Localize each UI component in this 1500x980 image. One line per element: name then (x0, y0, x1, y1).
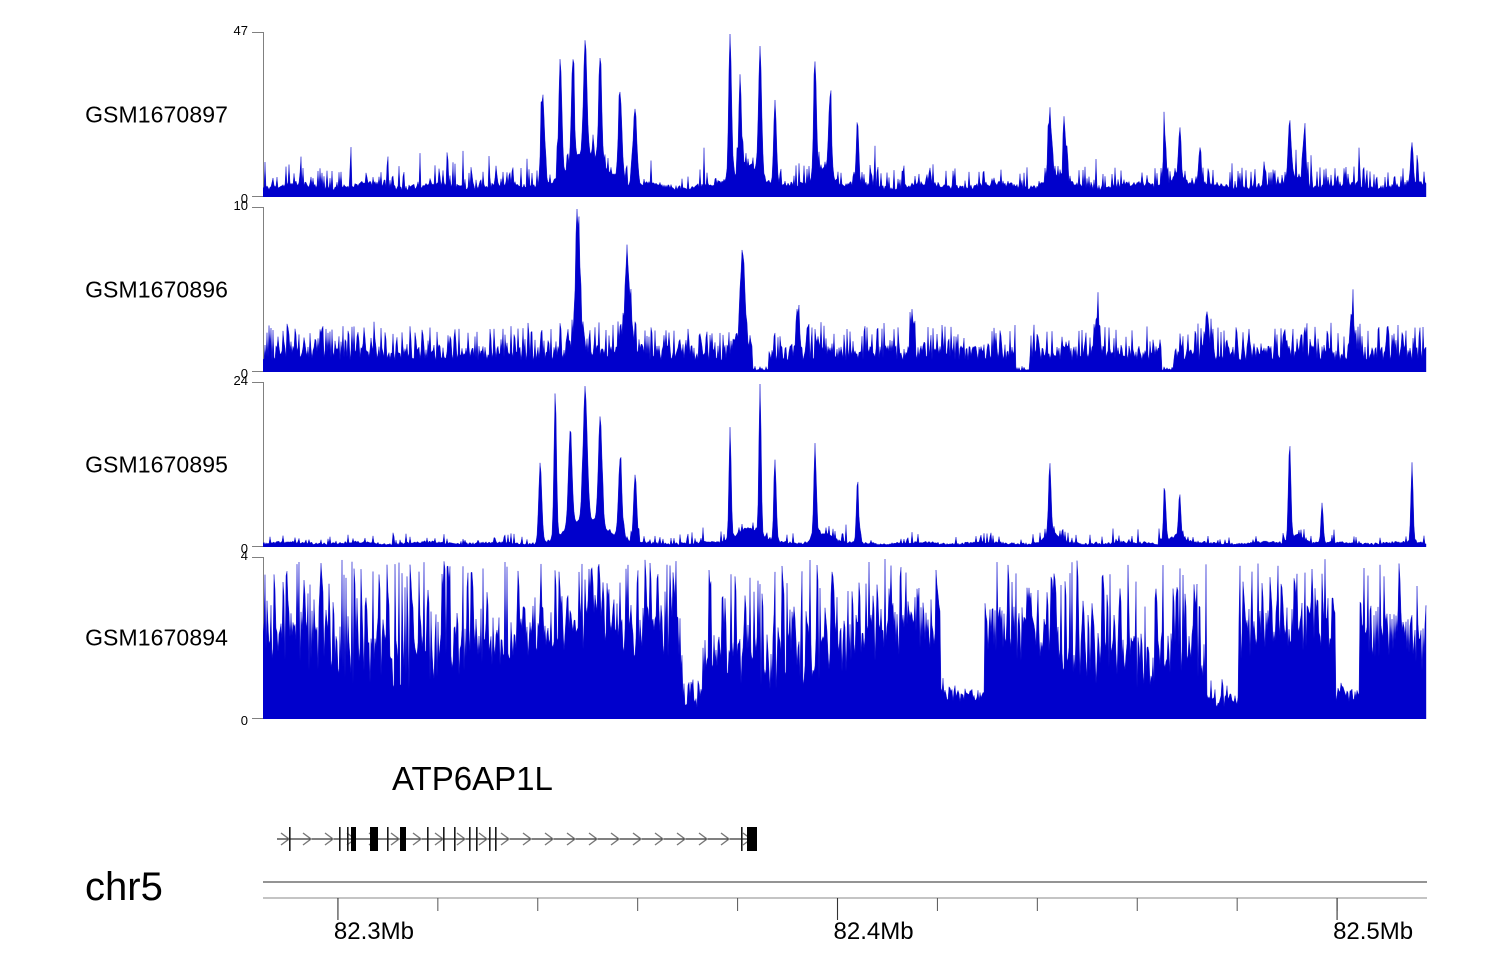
coverage-plot-area[interactable] (263, 382, 1427, 547)
y-axis-min-label: 0 (241, 713, 248, 728)
coord-tick-label: 82.3Mb (334, 918, 414, 946)
y-axis-max-label: 24 (234, 373, 248, 388)
coordinate-axis[interactable]: 82.3Mb 82.4Mb 82.5Mb (263, 878, 1427, 973)
track-label: GSM1670895 (85, 451, 228, 478)
coverage-track-gsm1670894[interactable]: GSM1670894 4 0 (0, 557, 1500, 719)
genome-browser: GSM1670897 47 0 GSM1670896 10 0 GSM16708… (0, 0, 1500, 980)
gene-model[interactable] (263, 822, 1427, 856)
coord-tick-label: 82.5Mb (1333, 918, 1413, 946)
coverage-track-gsm1670895[interactable]: GSM1670895 24 0 (0, 382, 1500, 547)
coord-tick-label: 82.4Mb (834, 918, 914, 946)
track-label: GSM1670894 (85, 625, 228, 652)
coverage-plot-area[interactable] (263, 557, 1427, 719)
coverage-plot-area[interactable] (263, 32, 1427, 197)
gene-name-label: ATP6AP1L (392, 760, 553, 798)
coverage-plot-area[interactable] (263, 207, 1427, 372)
chromosome-label: chr5 (85, 865, 163, 910)
track-label: GSM1670897 (85, 101, 228, 128)
coverage-track-gsm1670897[interactable]: GSM1670897 47 0 (0, 32, 1500, 197)
gene-structure (263, 822, 1427, 856)
y-axis-max-label: 10 (234, 198, 248, 213)
coverage-track-gsm1670896[interactable]: GSM1670896 10 0 (0, 207, 1500, 372)
coverage-signal (263, 557, 1427, 719)
y-axis-max-label: 47 (234, 23, 248, 38)
y-axis-max-label: 4 (241, 548, 248, 563)
coverage-signal (263, 382, 1427, 547)
coverage-signal (263, 207, 1427, 372)
track-label: GSM1670896 (85, 276, 228, 303)
coverage-signal (263, 32, 1427, 197)
gene-annotation-track[interactable]: ATP6AP1L (0, 760, 1500, 860)
